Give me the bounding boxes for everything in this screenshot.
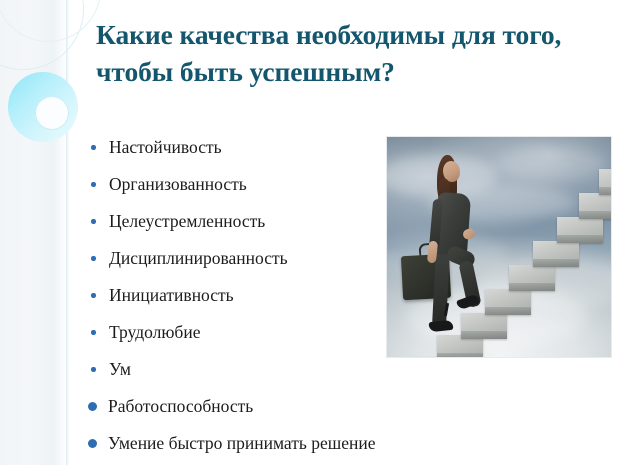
bullet-dot-icon [91, 145, 96, 150]
list-item-label: Целеустремленность [109, 211, 265, 232]
cloud-shape [497, 147, 607, 181]
list-item-label: Настойчивость [109, 137, 222, 158]
ring-circle-icon [8, 72, 78, 142]
bullet-dot-icon [91, 182, 96, 187]
bullet-dot-icon [91, 330, 96, 335]
bullet-dot-icon [91, 256, 96, 261]
stair-block [599, 169, 612, 195]
list-item: Настойчивость [88, 129, 388, 166]
stair-block [557, 217, 603, 243]
list-item: Организованность [88, 166, 388, 203]
list-item-label: Умение быстро принимать решение [108, 433, 375, 454]
decorative-side-band [0, 0, 68, 465]
stair-block [533, 241, 579, 267]
bullet-dot-icon [91, 293, 96, 298]
stair-block [509, 265, 555, 291]
stair-block [579, 193, 612, 219]
list-item-label: Организованность [109, 174, 247, 195]
decorative-band-edge [66, 0, 69, 465]
list-item-label: Ум [109, 359, 131, 380]
list-item: Работоспособность [88, 388, 388, 425]
list-item-label: Дисциплинированность [109, 248, 288, 269]
bullet-dot-icon [91, 367, 96, 372]
list-item: Целеустремленность [88, 203, 388, 240]
stair-block [461, 313, 507, 339]
list-item-label: Работоспособность [108, 396, 253, 417]
list-item-label: Инициативность [109, 285, 234, 306]
list-item: Трудолюбие [88, 314, 388, 351]
bullet-dot-icon [88, 402, 97, 411]
list-item: Инициативность [88, 277, 388, 314]
stair-block [411, 357, 457, 358]
list-item: Ум [88, 351, 388, 388]
list-item-label: Трудолюбие [109, 322, 200, 343]
bullet-dot-icon [91, 219, 96, 224]
ring-circle-hole [35, 96, 69, 130]
list-item: Дисциплинированность [88, 240, 388, 277]
stair-block [485, 289, 531, 315]
slide-canvas: Какие качества необходимы для того, чтоб… [0, 0, 620, 465]
slide-title: Какие качества необходимы для того, чтоб… [96, 16, 596, 90]
qualities-bullet-list: Настойчивость Организованность Целеустре… [88, 129, 388, 462]
businesswoman-climbing-stairs-photo [386, 136, 612, 358]
list-item: Умение быстро принимать решение [88, 425, 388, 462]
bullet-dot-icon [88, 439, 97, 448]
